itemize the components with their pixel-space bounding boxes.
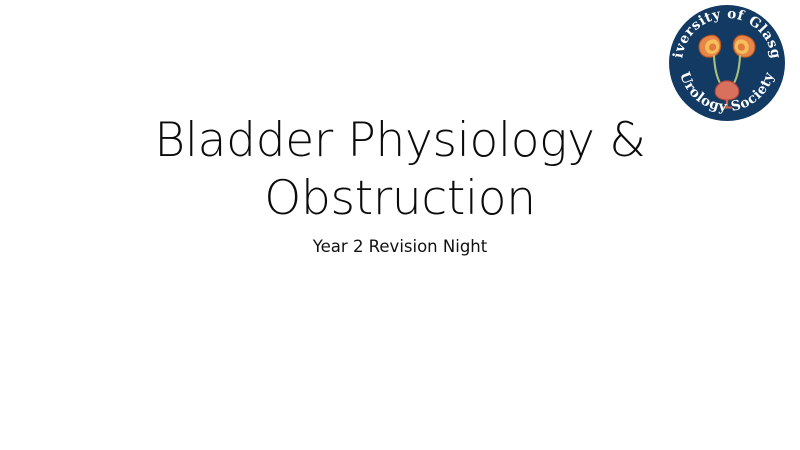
title-placeholder: Bladder Physiology & Obstruction xyxy=(60,112,740,228)
presentation-slide: Bladder Physiology & Obstruction Year 2 … xyxy=(0,0,800,450)
page-title: Bladder Physiology & Obstruction xyxy=(60,112,740,228)
left-kidney-icon xyxy=(699,35,721,57)
society-logo: University of Glasgow Urology Society xyxy=(668,4,786,122)
right-kidney-icon xyxy=(733,35,755,57)
page-subtitle: Year 2 Revision Night xyxy=(60,236,740,258)
subtitle-placeholder: Year 2 Revision Night xyxy=(60,236,740,258)
